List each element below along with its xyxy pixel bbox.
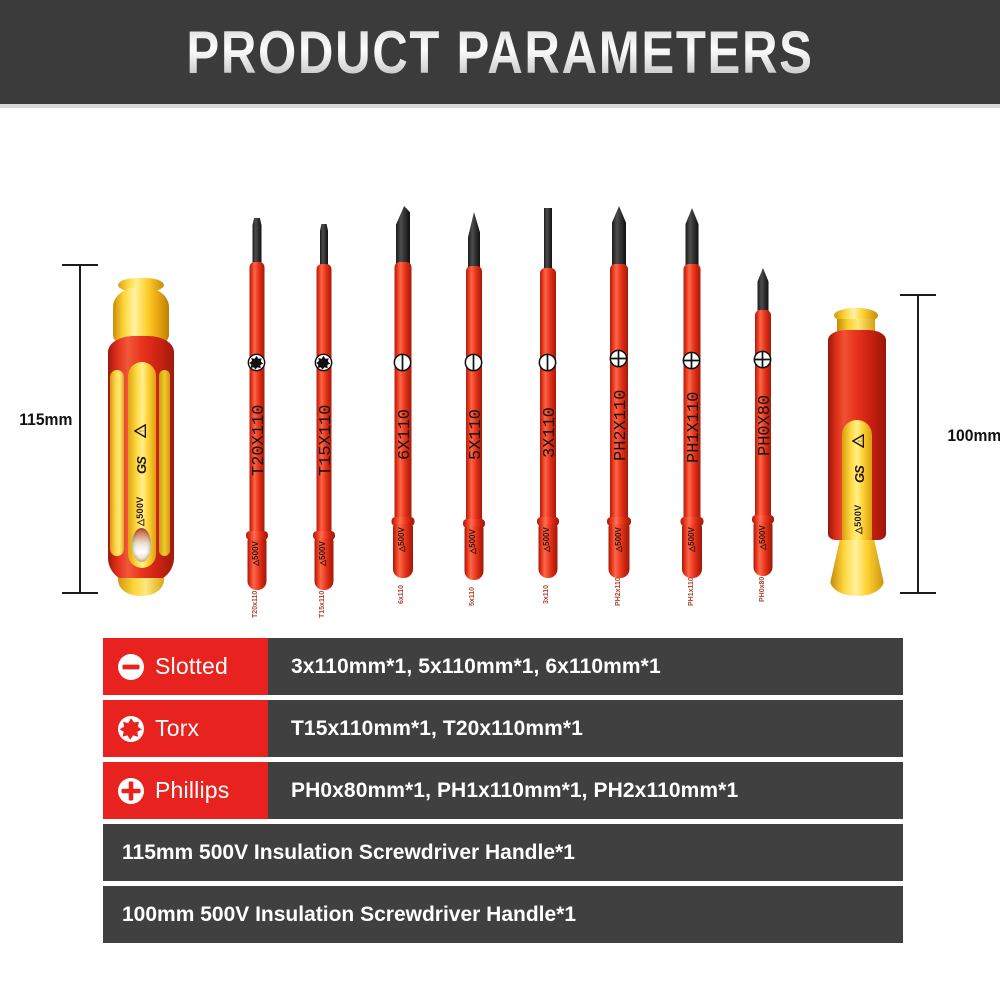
spec-label-text: Slotted [155,653,228,680]
warning-triangle-icon: ! [134,424,146,438]
bit-tip-slotted [396,206,410,268]
handle-100mm: ! GS △500V [822,308,892,596]
handle-flared-base [830,540,884,596]
spec-value-torx: T15x110mm*1, T20x110mm*1 [268,700,903,757]
bit-voltage-text: 500V [318,541,327,560]
bit-shaft [250,262,265,538]
page-header: PRODUCT PARAMETERS [0,0,1000,104]
handle-grip-right [159,370,170,556]
spec-label-cell-slotted: Slotted [103,638,268,695]
bit-label: 5X110 [467,409,486,460]
svg-text:!: ! [858,440,864,441]
bit-shaft [395,262,412,524]
spec-value-phillips: PH0x80mm*1, PH1x110mm*1, PH2x110mm*1 [268,762,903,819]
phillips-icon [116,776,146,806]
bit-voltage-text: 500V [758,525,767,544]
bit-label: 6X110 [396,409,415,460]
dimension-vertical-line [917,294,919,594]
bit-voltage-mark: △500V [614,527,623,552]
bit-voltage-mark: △500V [251,541,260,566]
bit-tip-phillips [686,208,699,270]
bit-code-mark: PH2x110 [615,577,622,606]
svg-text:!: ! [140,430,146,431]
bit-label: PH2X110 [612,390,631,461]
bit-voltage-text: 500V [687,527,696,546]
dimension-label-115mm: 115mm [19,410,72,430]
handle-voltage-mark: △500V [135,497,146,526]
bit-tip-phillips [612,206,626,270]
bit-code-mark: T20x110 [252,591,259,618]
bit-voltage-mark: △500V [758,525,767,550]
bit-tip-slotted [544,208,552,274]
dimension-label-100mm: 100mm [947,426,1000,446]
spec-label-cell-phillips: Phillips [103,762,268,819]
bit-label: PH0X80 [756,395,775,456]
bit-label: T20X110 [250,405,269,476]
torx-icon [247,353,266,372]
table-row: 100mm 500V Insulation Screwdriver Handle… [103,886,903,943]
slotted-icon [393,353,412,372]
bit-shaft [466,266,482,526]
bit-voltage-text: 500V [542,527,551,546]
bit-code-mark: PH1x110 [688,577,695,606]
page-title: PRODUCT PARAMETERS [90,0,910,104]
torx-icon [314,353,333,372]
dimension-cap-bottom [62,592,98,594]
table-row: Phillips PH0x80mm*1, PH1x110mm*1, PH2x11… [103,762,903,819]
bit-voltage-text: 500V [614,527,623,546]
bit-code-mark: 3x110 [543,585,550,604]
handle-hanging-hole [132,528,151,562]
bit-6x110: 6X110 △500V 6x110 [385,206,421,588]
spec-value-handle-100mm: 100mm 500V Insulation Screwdriver Handle… [103,886,903,943]
bit-tip-slotted [468,212,480,272]
bit-voltage-mark: △500V [318,541,327,566]
bit-label: PH1X110 [685,392,704,463]
spec-label-text: Phillips [155,777,229,804]
gs-cert-mark: GS [852,466,867,483]
bit-voltage-text: 500V [397,527,406,546]
bit-voltage-mark: △500V [397,527,406,552]
bit-shaft [540,268,556,524]
bit-code-mark: T15x110 [319,591,326,618]
slotted-icon [538,353,557,372]
table-row: Slotted 3x110mm*1, 5x110mm*1, 6x110mm*1 [103,638,903,695]
handle-voltage-text: 500V [853,505,863,527]
handle-grip-left [110,370,124,556]
dimension-vertical-line [79,264,81,594]
warning-triangle-icon: ! [852,434,864,448]
handle-115mm: ! GS △500V [104,278,178,596]
table-row: 115mm 500V Insulation Screwdriver Handle… [103,824,903,881]
dimension-cap-bottom [900,592,936,594]
bit-tip-phillips [758,268,769,316]
product-photo-area: 115mm 100mm ! GS △500V T20X110 △500V T20 [0,108,1000,628]
bit-voltage-mark: △500V [687,527,696,552]
handle-base [118,578,164,596]
phillips-icon [609,349,628,368]
bit-voltage-mark: △500V [542,527,551,552]
bit-ph1x110: PH1X110 △500V PH1x110 [675,208,709,588]
dimension-line-100mm [900,294,936,594]
bit-ph2x110: PH2X110 △500V PH2x110 [601,206,637,588]
bit-t15x110: T15X110 △500V T15x110 [307,224,341,588]
spec-label-cell-torx: Torx [103,700,268,757]
bit-code-mark: 6x110 [398,585,405,604]
table-row: Torx T15x110mm*1, T20x110mm*1 [103,700,903,757]
bit-code-mark: 5x110 [469,587,476,606]
spec-label-text: Torx [155,715,199,742]
bit-shaft [317,264,332,538]
spec-value-slotted: 3x110mm*1, 5x110mm*1, 6x110mm*1 [268,638,903,695]
phillips-icon [682,351,701,370]
phillips-icon [753,350,772,369]
slotted-icon [464,353,483,372]
bit-voltage-mark: △500V [468,529,477,554]
bit-voltage-text: 500V [251,541,260,560]
bit-ph0x80: PH0X80 △500V PH0x80 [747,268,779,588]
bit-3x110: 3X110 △500V 3x110 [531,208,565,588]
spec-value-handle-115mm: 115mm 500V Insulation Screwdriver Handle… [103,824,903,881]
bit-label: T15X110 [317,405,336,476]
bit-label: 3X110 [541,407,560,458]
handle-voltage-mark: △500V [853,505,864,534]
torx-icon [116,714,146,744]
slotted-icon [116,652,146,682]
bit-t20x110: T20X110 △500V T20x110 [240,218,274,588]
bit-code-mark: PH0x80 [759,577,766,602]
bit-5x110: 5X110 △500V 5x110 [457,212,491,588]
spec-table: Slotted 3x110mm*1, 5x110mm*1, 6x110mm*1 … [103,638,903,948]
gs-cert-mark: GS [134,457,149,474]
bit-voltage-text: 500V [468,529,477,548]
handle-voltage-text: 500V [135,497,145,519]
